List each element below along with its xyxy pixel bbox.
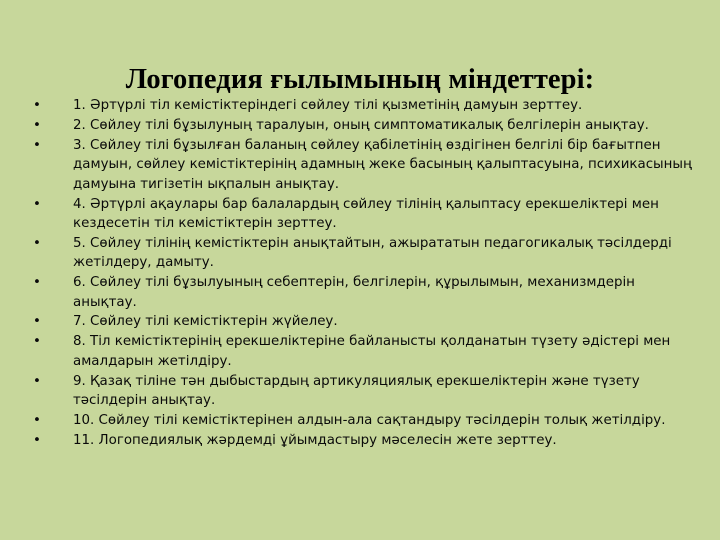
bullet-point-icon: •: [33, 234, 45, 253]
bullet-point-icon: •: [33, 431, 45, 450]
list-item-text: 2. Сөйлеу тілі бұзылуның таралуын, оның …: [73, 116, 694, 135]
list-item: •2. Сөйлеу тілі бұзылуның таралуын, оның…: [26, 116, 694, 135]
list-item-text: 11. Логопедиялық жәрдемді ұйымдастыру мә…: [73, 431, 694, 450]
bullet-list: •1. Әртүрлі тіл кемістіктеріндегі сөйлеу…: [26, 96, 694, 451]
list-item: •11. Логопедиялық жәрдемді ұйымдастыру м…: [26, 431, 694, 450]
bullet-point-icon: •: [33, 96, 45, 115]
list-item-text: 8. Тіл кемістіктерінің ерекшеліктеріне б…: [73, 332, 694, 371]
list-item-text: 6. Сөйлеу тілі бұзылуының себептерін, бе…: [73, 273, 694, 312]
bullet-point-icon: •: [33, 332, 45, 351]
list-item-text: 10. Сөйлеу тілі кемістіктерінен алдын-ал…: [73, 411, 694, 430]
list-item: •5. Сөйлеу тілінің кемістіктерін анықтай…: [26, 234, 694, 273]
bullet-point-icon: •: [33, 136, 45, 155]
list-item-text: 7. Сөйлеу тілі кемістіктерін жүйелеу.: [73, 312, 694, 331]
presentation-slide: Логопедия ғылымының міндеттері: •1. Әртү…: [0, 0, 720, 540]
list-item-text: 1. Әртүрлі тіл кемістіктеріндегі сөйлеу …: [73, 96, 694, 115]
bullet-point-icon: •: [33, 116, 45, 135]
list-item: •3. Сөйлеу тілі бұзылған баланың сөйлеу …: [26, 136, 694, 194]
list-item-text: 4. Әртүрлі ақаулары бар балалардың сөйле…: [73, 195, 694, 234]
bullet-point-icon: •: [33, 195, 45, 214]
list-item-text: 9. Қазақ тіліне тән дыбыстардың артикуля…: [73, 372, 694, 411]
bullet-point-icon: •: [33, 273, 45, 292]
list-item: •8. Тіл кемістіктерінің ерекшеліктеріне …: [26, 332, 694, 371]
list-item-text: 5. Сөйлеу тілінің кемістіктерін анықтайт…: [73, 234, 694, 273]
list-item: •4. Әртүрлі ақаулары бар балалардың сөйл…: [26, 195, 694, 234]
bullet-point-icon: •: [33, 312, 45, 331]
list-item-text: 3. Сөйлеу тілі бұзылған баланың сөйлеу қ…: [73, 136, 694, 194]
list-item: •9. Қазақ тіліне тән дыбыстардың артикул…: [26, 372, 694, 411]
page-title: Логопедия ғылымының міндеттері:: [0, 63, 720, 97]
bullet-point-icon: •: [33, 372, 45, 391]
bullet-point-icon: •: [33, 411, 45, 430]
list-item: •6. Сөйлеу тілі бұзылуының себептерін, б…: [26, 273, 694, 312]
list-item: •7. Сөйлеу тілі кемістіктерін жүйелеу.: [26, 312, 694, 331]
list-item: •10. Сөйлеу тілі кемістіктерінен алдын-а…: [26, 411, 694, 430]
list-item: •1. Әртүрлі тіл кемістіктеріндегі сөйлеу…: [26, 96, 694, 115]
